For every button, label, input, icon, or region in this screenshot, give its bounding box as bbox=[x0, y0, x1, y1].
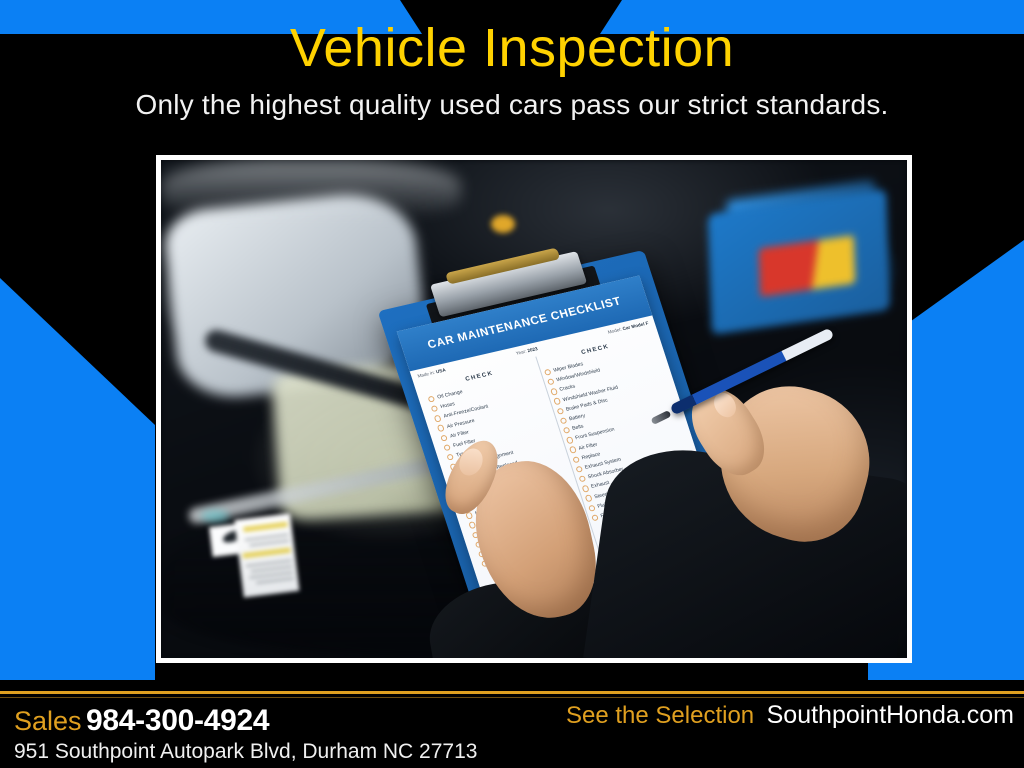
checkbox-circle-icon[interactable] bbox=[569, 446, 577, 454]
checklist-item-label: Belts bbox=[571, 424, 584, 432]
meta-year-value: 2023 bbox=[527, 346, 539, 353]
service-hang-tag bbox=[209, 513, 300, 600]
checkbox-circle-icon[interactable] bbox=[578, 475, 586, 483]
checkbox-circle-icon[interactable] bbox=[431, 405, 439, 413]
vehicle-inspection-ad: Vehicle Inspection Only the highest qual… bbox=[0, 0, 1024, 768]
meta-made-in-label: Made in: bbox=[417, 370, 436, 379]
checkbox-circle-icon[interactable] bbox=[427, 395, 435, 403]
footer: Sales 984-300-4924 951 Southpoint Autopa… bbox=[0, 700, 1024, 768]
page-title: Vehicle Inspection bbox=[0, 0, 1024, 80]
engine-bay-highlight bbox=[161, 160, 461, 220]
footer-website-group[interactable]: See the Selection SouthpointHonda.com bbox=[566, 701, 1014, 730]
footer-sales-label: Sales bbox=[14, 706, 82, 736]
footer-see-selection-label: See the Selection bbox=[566, 702, 754, 729]
blue-triangle-left-decoration bbox=[0, 240, 170, 680]
checkbox-circle-icon[interactable] bbox=[440, 434, 448, 442]
hero-photo: CAR MAINTENANCE CHECKLIST Made in: USA Y… bbox=[161, 160, 907, 658]
page-subtitle: Only the highest quality used cars pass … bbox=[0, 80, 1024, 122]
footer-address: 951 Southpoint Autopark Blvd, Durham NC … bbox=[14, 740, 477, 764]
checkbox-circle-icon[interactable] bbox=[591, 514, 599, 522]
meta-model-value: Car Model F bbox=[622, 321, 649, 332]
checkbox-circle-icon[interactable] bbox=[565, 436, 573, 444]
checkbox-circle-icon[interactable] bbox=[556, 407, 564, 415]
footer-divider-rule bbox=[0, 691, 1024, 694]
hero-photo-frame: CAR MAINTENANCE CHECKLIST Made in: USA Y… bbox=[156, 155, 912, 663]
checkbox-circle-icon[interactable] bbox=[584, 495, 592, 503]
footer-contact: Sales 984-300-4924 bbox=[14, 704, 269, 738]
checkbox-circle-icon[interactable] bbox=[553, 398, 561, 406]
meta-year-label: Year: bbox=[515, 349, 527, 356]
checkbox-circle-icon[interactable] bbox=[581, 485, 589, 493]
checkbox-circle-icon[interactable] bbox=[575, 466, 583, 474]
checkbox-circle-icon[interactable] bbox=[443, 444, 451, 452]
checkbox-circle-icon[interactable] bbox=[562, 427, 570, 435]
amber-dipstick-handle bbox=[491, 215, 515, 233]
meta-made-in-value: USA bbox=[435, 367, 446, 374]
checkbox-circle-icon[interactable] bbox=[559, 417, 567, 425]
checkbox-circle-icon[interactable] bbox=[437, 424, 445, 432]
meta-made-in: Made in: USA bbox=[417, 367, 447, 378]
checkbox-circle-icon[interactable] bbox=[543, 369, 551, 377]
header: Vehicle Inspection Only the highest qual… bbox=[0, 0, 1024, 122]
checkbox-circle-icon[interactable] bbox=[547, 378, 555, 386]
footer-phone[interactable]: 984-300-4924 bbox=[86, 704, 269, 737]
meta-year: Year: 2023 bbox=[515, 346, 538, 356]
checkbox-circle-icon[interactable] bbox=[550, 388, 558, 396]
footer-divider-rule-secondary bbox=[0, 697, 1024, 698]
checkbox-circle-icon[interactable] bbox=[446, 454, 454, 462]
meta-model-label: Model: bbox=[607, 327, 622, 335]
checkbox-circle-icon[interactable] bbox=[434, 415, 442, 423]
checkbox-circle-icon[interactable] bbox=[572, 456, 580, 464]
footer-website-url[interactable]: SouthpointHonda.com bbox=[767, 701, 1014, 729]
checkbox-circle-icon[interactable] bbox=[587, 504, 595, 512]
